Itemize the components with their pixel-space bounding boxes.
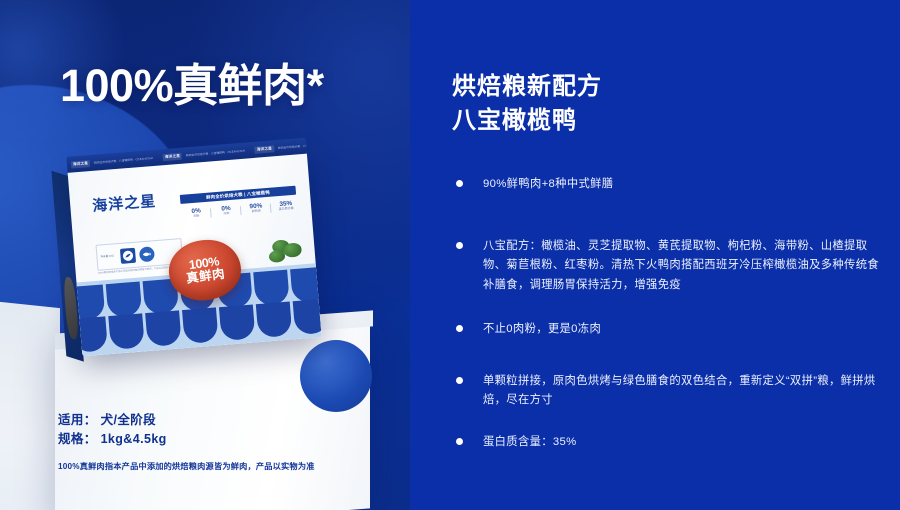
bullet-dot-icon [456, 438, 463, 445]
stat-item: 90% 鲜鸭肉 [241, 202, 272, 215]
stat-item: 0% 肉粉 [181, 207, 212, 220]
bullet-text: 不止0肉粉，更是0冻肉 [483, 320, 886, 339]
bullet-dot-icon [456, 325, 463, 332]
kibble-badge-line2: 真鲜肉 [186, 268, 226, 286]
band-brand-mark: 海洋之星 [71, 160, 91, 169]
list-item: 90%鲜鸭肉+8种中式鲜膳 [456, 175, 886, 194]
bullet-text: 蛋白质含量：35% [483, 433, 886, 452]
pedestal-side-face [0, 302, 60, 510]
band-brand-mark: 海洋之星 [255, 145, 275, 154]
band-subtext: 鲜肉全价烘焙犬粮 · 八宝橄榄鸭 · OCEANSTAR [186, 149, 245, 158]
package-product-banner-label: 鲜肉全价烘焙犬粮 | 八宝橄榄鸭 [206, 189, 270, 200]
msc-fish-icon [139, 246, 155, 262]
footnote-disclaimer: 100%真鲜肉指本产品中添加的烘焙粮肉源皆为鲜肉，产品以实物为准 [58, 460, 315, 472]
decorative-sphere [300, 340, 372, 412]
list-item: 八宝配方：橄榄油、灵芝提取物、黄芪提取物、枸杞粉、海带粉、山楂提取物、菊苣根粉、… [456, 237, 888, 295]
bullet-dot-icon [456, 242, 463, 249]
stat-item: 35% 蛋白质含量 [271, 199, 302, 212]
package-brand-logo: 海洋之星 [92, 190, 157, 216]
bullet-text: 八宝配方：橄榄油、灵芝提取物、黄芪提取物、枸杞粉、海带粉、山楂提取物、菊苣根粉、… [483, 237, 888, 295]
right-info-panel: 烘焙粮新配方 八宝橄榄鸭 90%鲜鸭肉+8种中式鲜膳 八宝配方：橄榄油、灵芝提取… [410, 0, 900, 510]
stat-item: 0% 冻肉 [211, 204, 242, 217]
left-hero-panel: 100%真鲜肉* 海洋之星 鲜肉全价烘焙犬粮 · 八宝橄榄鸭 · OCEANST… [0, 0, 410, 510]
net-weight-label: 净含量 1KG [100, 255, 116, 260]
band-subtext: 鲜肉全价烘焙犬粮 · 八宝橄榄鸭 · OCEANSTAR [94, 156, 153, 165]
spec-suitable-for: 适用： 犬/全阶段 [58, 411, 167, 430]
band-subtext: 鲜肉全价烘焙犬粮 · 八宝橄榄鸭 · OCEANSTAR [278, 141, 307, 150]
product-specs: 适用： 犬/全阶段 规格： 1kg&4.5kg [58, 411, 167, 449]
section-title-line2: 八宝橄榄鸭 [452, 104, 872, 138]
section-title-line1: 烘焙粮新配方 [452, 70, 872, 104]
spec-package-size: 规格： 1kg&4.5kg [58, 430, 167, 449]
package-front-face: 海洋之星 鲜肉全价烘焙犬粮 | 八宝橄榄鸭 0% 肉粉 0% 冻肉 90% [68, 154, 322, 357]
bullet-text: 90%鲜鸭肉+8种中式鲜膳 [483, 175, 886, 194]
bullet-text: 单颗粒拼接，原肉色烘烤与绿色膳食的双色结合，重新定义“双拼”粮，鲜拼烘焙，尽在方… [483, 372, 876, 411]
band-unit: 海洋之星 鲜肉全价烘焙犬粮 · 八宝橄榄鸭 · OCEANSTAR [255, 140, 307, 154]
list-item: 单颗粒拼接，原肉色烘烤与绿色膳食的双色结合，重新定义“双拼”粮，鲜拼烘焙，尽在方… [456, 372, 876, 411]
olive-illustration [266, 238, 304, 267]
section-title: 烘焙粮新配方 八宝橄榄鸭 [452, 70, 872, 138]
bullet-dot-icon [456, 377, 463, 384]
list-item: 蛋白质含量：35% [456, 433, 886, 452]
band-brand-mark: 海洋之星 [163, 152, 183, 161]
product-package: 海洋之星 鲜肉全价烘焙犬粮 · 八宝橄榄鸭 · OCEANSTAR 海洋之星 鲜… [66, 138, 321, 357]
fairtrade-icon [120, 247, 136, 263]
list-item: 不止0肉粉，更是0冻肉 [456, 320, 886, 339]
product-banner-stage: 100%真鲜肉* 海洋之星 鲜肉全价烘焙犬粮 · 八宝橄榄鸭 · OCEANST… [0, 0, 900, 510]
hero-headline: 100%真鲜肉* [60, 63, 400, 108]
bullet-dot-icon [456, 180, 463, 187]
